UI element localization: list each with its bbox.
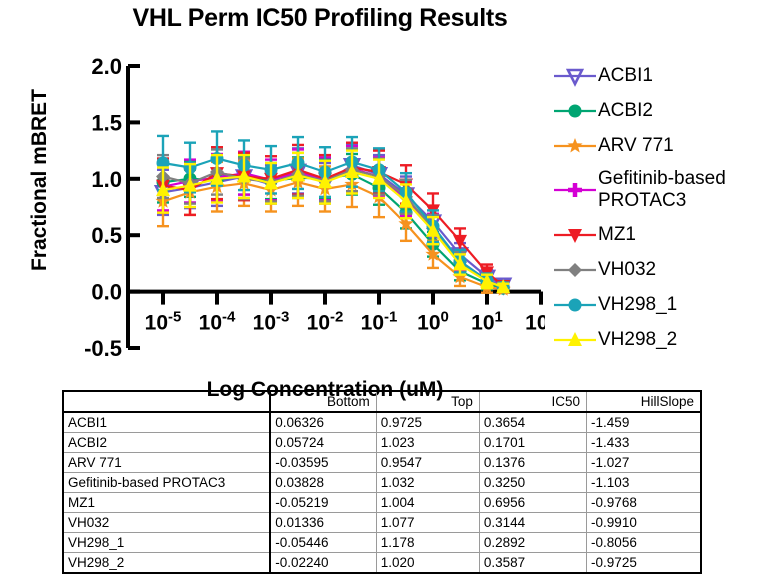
legend-item-arv-771[interactable]: ARV 771 bbox=[552, 128, 765, 163]
legend-item-acbi2[interactable]: ACBI2 bbox=[552, 93, 765, 128]
svg-text:1.0: 1.0 bbox=[91, 167, 122, 192]
results-table: BottomTopIC50HillSlope ACBI10.063260.972… bbox=[62, 390, 702, 574]
table-cell-hill: -0.8056 bbox=[587, 533, 701, 553]
chart-series-group bbox=[155, 131, 510, 295]
table-cell-hill: -0.9768 bbox=[587, 493, 701, 513]
table-cell-ic50: 0.3250 bbox=[479, 473, 586, 493]
chart-svg: 2.01.51.00.50.0-0.510-510-410-310-210-11… bbox=[0, 48, 545, 368]
legend-label: VH032 bbox=[598, 259, 656, 281]
page-title: VHL Perm IC50 Profiling Results bbox=[0, 4, 640, 33]
svg-text:10-1: 10-1 bbox=[361, 309, 398, 335]
table-cell-top: 1.178 bbox=[376, 533, 479, 553]
table-cell-name: Gefitinib-based PROTAC3 bbox=[63, 473, 270, 493]
table-row: VH298_2-0.022401.0200.3587-0.9725 bbox=[63, 553, 701, 574]
table-cell-top: 1.004 bbox=[376, 493, 479, 513]
plus-icon bbox=[552, 177, 598, 203]
legend-label: ACBI2 bbox=[598, 100, 653, 122]
table-col-header-ic50: IC50 bbox=[479, 391, 586, 412]
legend-item-vh298-2[interactable]: VH298_2 bbox=[552, 322, 765, 357]
table-cell-name: VH298_2 bbox=[63, 553, 270, 574]
table-cell-ic50: 0.3144 bbox=[479, 513, 586, 533]
legend-item-acbi1[interactable]: ACBI1 bbox=[552, 58, 765, 93]
table-row: VH298_1-0.054461.1780.2892-0.8056 bbox=[63, 533, 701, 553]
table-row: ACBI10.063260.97250.3654-1.459 bbox=[63, 412, 701, 433]
table-cell-bottom: 0.01336 bbox=[270, 513, 376, 533]
table-cell-name: ACBI1 bbox=[63, 412, 270, 433]
table-header-row: BottomTopIC50HillSlope bbox=[63, 391, 701, 412]
table-cell-top: 0.9725 bbox=[376, 412, 479, 433]
table-cell-name: VH032 bbox=[63, 513, 270, 533]
chart-legend: ACBI1ACBI2ARV 771Gefitinib-based PROTAC3… bbox=[552, 58, 765, 357]
legend-label: VH298_2 bbox=[598, 329, 677, 351]
table-cell-bottom: -0.05219 bbox=[270, 493, 376, 513]
table-cell-bottom: -0.05446 bbox=[270, 533, 376, 553]
star-icon bbox=[552, 133, 598, 159]
table-cell-bottom: -0.02240 bbox=[270, 553, 376, 574]
table-cell-name: MZ1 bbox=[63, 493, 270, 513]
table-cell-hill: -1.103 bbox=[587, 473, 701, 493]
table-cell-ic50: 0.3654 bbox=[479, 412, 586, 433]
table-cell-ic50: 0.6956 bbox=[479, 493, 586, 513]
table-cell-top: 1.020 bbox=[376, 553, 479, 574]
table-cell-hill: -1.459 bbox=[587, 412, 701, 433]
table-col-header-blank bbox=[63, 391, 270, 412]
table-cell-top: 0.9547 bbox=[376, 453, 479, 473]
circle-icon bbox=[552, 98, 598, 124]
table-row: ARV 771-0.035950.95470.1376-1.027 bbox=[63, 453, 701, 473]
legend-item-vh298-1[interactable]: VH298_1 bbox=[552, 287, 765, 322]
circle-icon bbox=[552, 292, 598, 318]
table-cell-bottom: 0.05724 bbox=[270, 433, 376, 453]
legend-label: MZ1 bbox=[598, 224, 636, 246]
table-col-header-hillslope: HillSlope bbox=[587, 391, 701, 412]
table-cell-hill: -0.9725 bbox=[587, 553, 701, 574]
table-row: ACBI20.057241.0230.1701-1.433 bbox=[63, 433, 701, 453]
svg-text:10-2: 10-2 bbox=[307, 309, 344, 335]
table-cell-top: 1.032 bbox=[376, 473, 479, 493]
legend-item-mz1[interactable]: MZ1 bbox=[552, 217, 765, 252]
table-cell-ic50: 0.2892 bbox=[479, 533, 586, 553]
legend-item-gefitinib-based-protac3[interactable]: Gefitinib-based PROTAC3 bbox=[552, 163, 765, 217]
table-cell-ic50: 0.1376 bbox=[479, 453, 586, 473]
table-cell-bottom: -0.03595 bbox=[270, 453, 376, 473]
table-cell-bottom: 0.06326 bbox=[270, 412, 376, 433]
svg-text:2.0: 2.0 bbox=[91, 54, 122, 79]
legend-item-vh032[interactable]: VH032 bbox=[552, 252, 765, 287]
table-row: Gefitinib-based PROTAC30.038281.0320.325… bbox=[63, 473, 701, 493]
table-col-header-top: Top bbox=[376, 391, 479, 412]
table-header: BottomTopIC50HillSlope bbox=[63, 391, 701, 412]
svg-text:10-3: 10-3 bbox=[253, 309, 290, 335]
svg-text:1.5: 1.5 bbox=[91, 110, 122, 135]
svg-text:100: 100 bbox=[417, 309, 449, 335]
table-row: MZ1-0.052191.0040.6956-0.9768 bbox=[63, 493, 701, 513]
svg-text:10-4: 10-4 bbox=[199, 309, 236, 335]
legend-label: ACBI1 bbox=[598, 65, 653, 87]
table-cell-ic50: 0.3587 bbox=[479, 553, 586, 574]
table-cell-hill: -0.9910 bbox=[587, 513, 701, 533]
table-cell-top: 1.077 bbox=[376, 513, 479, 533]
svg-text:10-5: 10-5 bbox=[145, 309, 182, 335]
y-axis-label: Fractional mBRET bbox=[28, 50, 52, 310]
svg-text:101: 101 bbox=[471, 309, 503, 335]
table-cell-top: 1.023 bbox=[376, 433, 479, 453]
chart-axes: 2.01.51.00.50.0-0.510-510-410-310-210-11… bbox=[84, 54, 545, 361]
table-col-header-bottom: Bottom bbox=[270, 391, 376, 412]
table-cell-name: ACBI2 bbox=[63, 433, 270, 453]
table-body: ACBI10.063260.97250.3654-1.459ACBI20.057… bbox=[63, 412, 701, 573]
table-cell-ic50: 0.1701 bbox=[479, 433, 586, 453]
table-row: VH0320.013361.0770.3144-0.9910 bbox=[63, 513, 701, 533]
svg-text:0.5: 0.5 bbox=[91, 223, 122, 248]
table-cell-name: VH298_1 bbox=[63, 533, 270, 553]
chart-plot: 2.01.51.00.50.0-0.510-510-410-310-210-11… bbox=[0, 48, 545, 368]
legend-label: VH298_1 bbox=[598, 294, 677, 316]
table-cell-name: ARV 771 bbox=[63, 453, 270, 473]
diamond-icon bbox=[552, 257, 598, 283]
table-cell-hill: -1.433 bbox=[587, 433, 701, 453]
table-cell-bottom: 0.03828 bbox=[270, 473, 376, 493]
table-cell-hill: -1.027 bbox=[587, 453, 701, 473]
legend-label: Gefitinib-based PROTAC3 bbox=[598, 168, 726, 212]
triangle-down-icon bbox=[552, 222, 598, 248]
legend-label: ARV 771 bbox=[598, 135, 674, 157]
triangle-up-icon bbox=[552, 327, 598, 353]
svg-text:102: 102 bbox=[525, 309, 545, 335]
triangle-down-open-icon bbox=[552, 63, 598, 89]
svg-text:-0.5: -0.5 bbox=[84, 336, 122, 361]
svg-text:0.0: 0.0 bbox=[91, 280, 122, 305]
